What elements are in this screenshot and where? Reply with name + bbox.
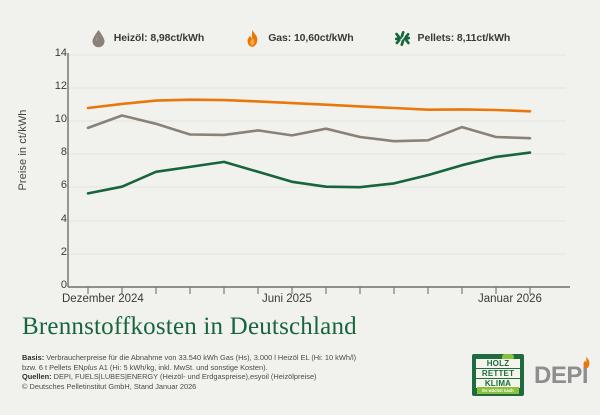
footer-notes: Basis: Verbraucherpreise für die Abnahme…: [22, 353, 462, 391]
gridlines: [68, 55, 566, 254]
footer-line-pellets: bzw. 6 t Pellets ENplus A1 (Hi: 5 kWh/kg…: [22, 363, 462, 373]
footer-line-quellen: Quellen: DEPI, FUELS|LUBES|ENERGY (Heizö…: [22, 372, 462, 382]
footer-quellen-label: Quellen:: [22, 372, 52, 381]
footer-pellets-b: A1 (Hi: 5 kWh/kg, inkl. MwSt. und sonsti…: [97, 363, 267, 372]
depi-logo-text: DEPI: [534, 362, 588, 390]
series-line-heizoel: [88, 116, 530, 142]
x-axis-labels: Dezember 2024 Juni 2025 Januar 2026: [0, 293, 600, 311]
footer-line-basis: Basis: Verbraucherpreise für die Abnahme…: [22, 353, 462, 363]
x-tick-label-middle: Juni 2025: [262, 293, 312, 305]
footer-line-copyright: © Deutsches Pelletinstitut GmbH, Stand J…: [22, 382, 462, 392]
x-tick-label-end: Januar 2026: [478, 293, 542, 305]
series-line-gas: [88, 100, 530, 112]
footer-basis-text: Verbraucherpreise für die Abnahme von 33…: [44, 353, 356, 362]
footer-pellets-plus: plus: [84, 363, 98, 372]
legend-item-gas: Gas: 10,60ct/kWh: [244, 29, 353, 48]
pellets-icon: [394, 29, 411, 48]
footer-pellets-a: bzw. 6 t Pellets EN: [22, 363, 84, 372]
depi-flame-icon: [582, 356, 591, 369]
chart-legend: Heizöl: 8,98ct/kWh Gas: 10,60ct/kWh: [0, 26, 600, 50]
holz-rettet-klima-logo: HOLZ RETTET KLIMA Es wächst nach: [472, 354, 524, 396]
legend-label-pellets: Pellets: 8,11ct/kWh: [418, 32, 511, 44]
plot-area: Preise in ct/kWh 14 12 10 8 6 4 2 0: [0, 48, 600, 300]
legend-label-gas: Gas: 10,60ct/kWh: [268, 32, 353, 44]
legend-label-heizoel: Heizöl: 8,98ct/kWh: [114, 32, 204, 44]
legend-item-pellets: Pellets: 8,11ct/kWh: [394, 29, 511, 48]
footer-quellen-text: DEPI, FUELS|LUBES|ENERGY (Heizöl- und Er…: [52, 372, 317, 381]
chart-card: Heizöl: 8,98ct/kWh Gas: 10,60ct/kWh: [0, 0, 600, 415]
gas-flame-icon: [244, 29, 261, 48]
page-title: Brennstoffkosten in Deutschland: [22, 313, 357, 341]
legend-item-heizoel: Heizöl: 8,98ct/kWh: [90, 29, 204, 48]
footer-basis-label: Basis:: [22, 353, 44, 362]
oil-drop-icon: [90, 29, 107, 48]
x-tick-label-start: Dezember 2024: [62, 293, 144, 305]
line-chart-svg: [0, 48, 600, 300]
holz-logo-line2: RETTET: [476, 369, 520, 378]
logo-group: HOLZ RETTET KLIMA Es wächst nach DEPI: [472, 354, 590, 398]
holz-logo-tagline: Es wächst nach: [477, 387, 519, 394]
holz-logo-line1: HOLZ: [476, 359, 520, 368]
